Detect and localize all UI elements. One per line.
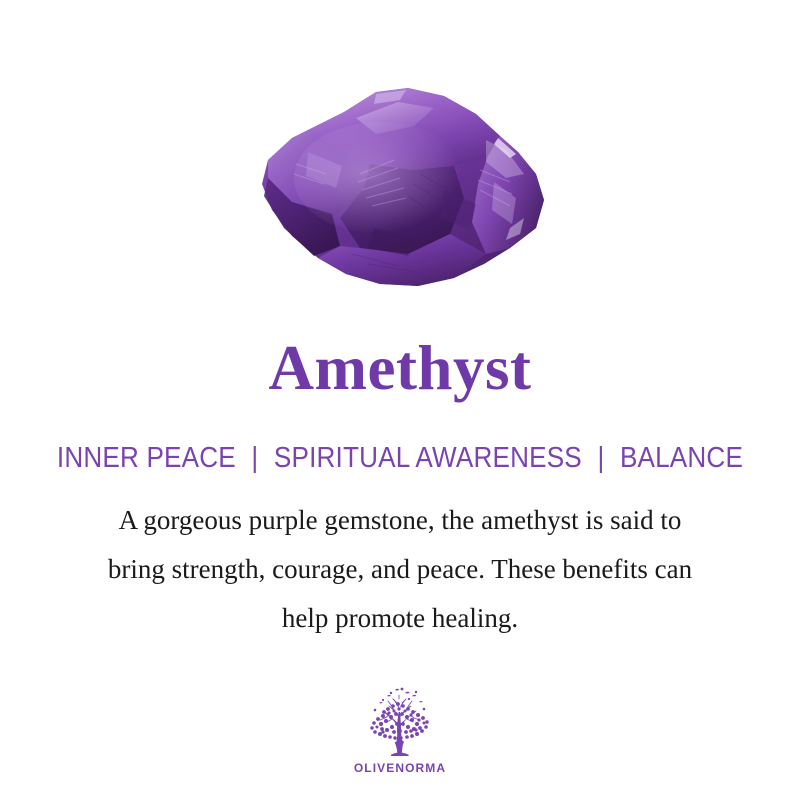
description-line: A gorgeous purple gemstone, the amethyst… — [60, 496, 740, 545]
brand-name: OLIVENORMA — [354, 761, 446, 775]
description-text: A gorgeous purple gemstone, the amethyst… — [60, 496, 740, 643]
keyword-spiritual-awareness: SPIRITUAL AWARENESS — [274, 442, 582, 474]
keyword-line: INNER PEACE | SPIRITUAL AWARENESS | BALA… — [40, 440, 760, 476]
page-title: Amethyst — [0, 332, 800, 404]
tree-icon — [361, 684, 439, 758]
description-line: bring strength, courage, and peace. Thes… — [60, 545, 740, 594]
amethyst-info-card: Amethyst INNER PEACE | SPIRITUAL AWARENE… — [0, 0, 800, 800]
keyword-separator: | — [589, 442, 612, 474]
keyword-inner-peace: INNER PEACE — [57, 442, 236, 474]
keyword-balance: BALANCE — [620, 442, 743, 474]
hero-image-area — [0, 0, 800, 320]
brand-logo: OLIVENORMA — [0, 684, 800, 775]
raw-amethyst-stone-icon — [248, 78, 553, 298]
keyword-separator: | — [243, 442, 266, 474]
description-line: help promote healing. — [60, 594, 740, 643]
